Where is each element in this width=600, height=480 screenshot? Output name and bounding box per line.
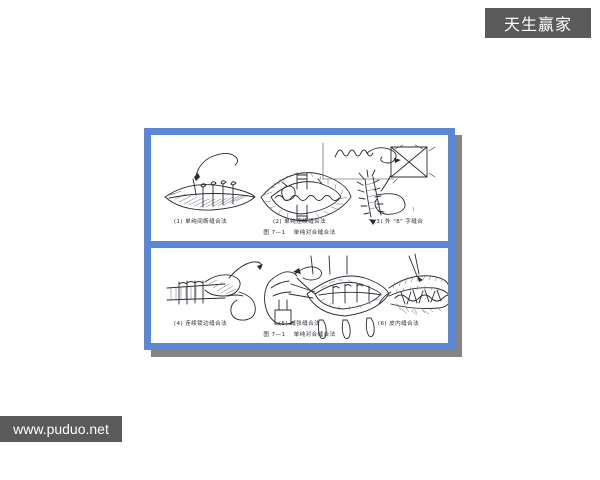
illustration-panel-top: (1) 单纯间断缝合法 (2) 单纯连续缝合法 (3) 外 "8" 字缝合 图 … bbox=[151, 135, 448, 241]
drawing-intradermal-suture bbox=[379, 254, 448, 315]
watermark-badge-bottom-left: www.puduo.net bbox=[0, 416, 122, 442]
suture-drawings-row-1 bbox=[151, 135, 448, 241]
illustration-frame: (1) 单纯间断缝合法 (2) 单纯连续缝合法 (3) 外 "8" 字缝合 图 … bbox=[144, 128, 455, 350]
watermark-badge-top-right: 天生赢家 bbox=[485, 8, 591, 38]
drawing-locking-suture bbox=[167, 262, 263, 320]
drawing-tension-relieving-suture bbox=[265, 256, 390, 339]
illustration-panel-bottom: (4) 连续锁边缝合法 (5) 减张缝合法 (6) 皮内缝合法 图 7—1 单纯… bbox=[151, 248, 448, 343]
suture-drawings-row-2 bbox=[151, 248, 448, 343]
drawing-interrupted-suture bbox=[165, 153, 255, 210]
